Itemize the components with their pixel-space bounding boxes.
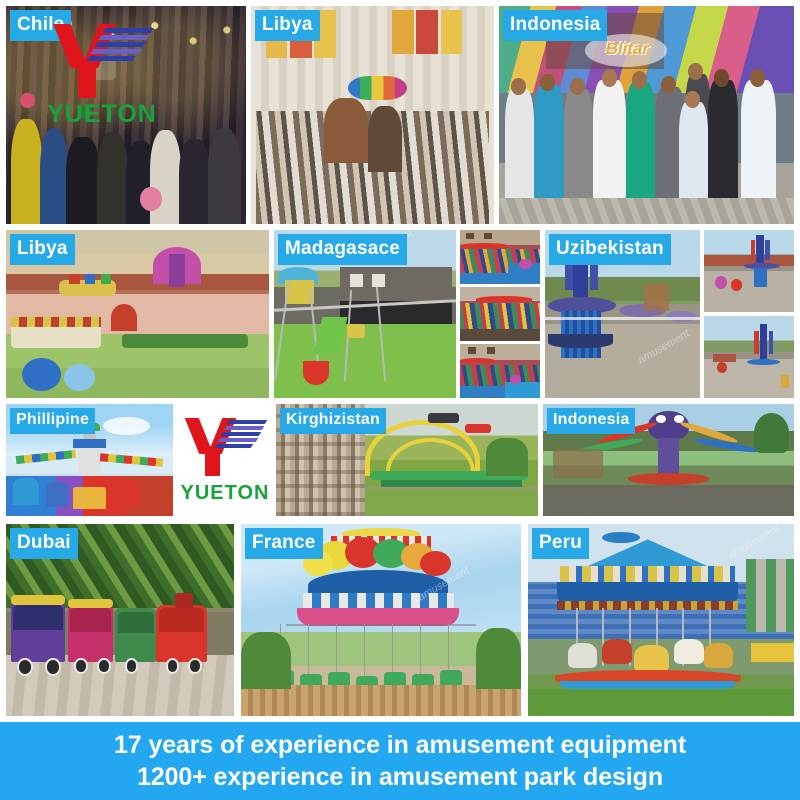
panel-uzbekistan: amusement Uzibekistan bbox=[545, 230, 794, 398]
panel-philippine: Phillipine bbox=[6, 404, 173, 516]
panel-france: amusement France bbox=[241, 524, 521, 716]
photo-madagascar-thumb-2 bbox=[460, 287, 540, 341]
country-label-kirghizistan: Kirghizistan bbox=[280, 408, 386, 434]
country-label-dubai: Dubai bbox=[10, 528, 78, 559]
country-label-libya-hall: Libya bbox=[255, 10, 320, 41]
photo-madagascar-thumb-3 bbox=[460, 344, 540, 398]
yueton-logo-tile: YUETON bbox=[176, 404, 274, 516]
panel-dubai: Dubai bbox=[6, 524, 234, 716]
image-collage: YUETON Chile Libya Blitar bbox=[0, 0, 800, 800]
panel-kirghizistan: Kirghizistan bbox=[276, 404, 538, 516]
country-label-libya-park: Libya bbox=[10, 234, 75, 265]
panel-madagascar: amusement Madagasace bbox=[274, 230, 540, 398]
panel-indonesia-team: Blitar Indonesia bbox=[499, 6, 794, 224]
country-label-madagascar: Madagasace bbox=[278, 234, 407, 265]
yueton-wordmark: YUETON bbox=[181, 482, 270, 505]
country-label-peru: Peru bbox=[532, 528, 589, 559]
photo-uzbekistan-thumb-1 bbox=[704, 230, 794, 312]
panel-libya-hall: Libya bbox=[251, 6, 494, 224]
panel-chile: YUETON Chile bbox=[6, 6, 246, 224]
banner-line-2: 1200+ experience in amusement park desig… bbox=[137, 761, 663, 793]
bottom-banner: 17 years of experience in amusement equi… bbox=[0, 722, 800, 800]
country-label-indonesia-team: Indonesia bbox=[503, 10, 607, 41]
scene-text-blitar: Blitar bbox=[590, 39, 664, 59]
photo-madagascar-thumb-1 bbox=[460, 230, 540, 284]
country-label-indonesia-octopus: Indonesia bbox=[547, 408, 635, 434]
panel-indonesia-octopus: Indonesia bbox=[543, 404, 794, 516]
photo-uzbekistan-thumb-2 bbox=[704, 316, 794, 398]
yueton-wordmark: YUETON bbox=[47, 100, 157, 129]
country-label-philippine: Phillipine bbox=[10, 408, 95, 434]
panel-peru: amusement Peru bbox=[528, 524, 794, 716]
panel-libya-park: Libya bbox=[6, 230, 269, 398]
country-label-uzbekistan: Uzibekistan bbox=[549, 234, 671, 265]
yueton-logo-overlay-chile: YUETON bbox=[42, 14, 162, 136]
banner-line-1: 17 years of experience in amusement equi… bbox=[114, 729, 686, 761]
country-label-france: France bbox=[245, 528, 323, 559]
